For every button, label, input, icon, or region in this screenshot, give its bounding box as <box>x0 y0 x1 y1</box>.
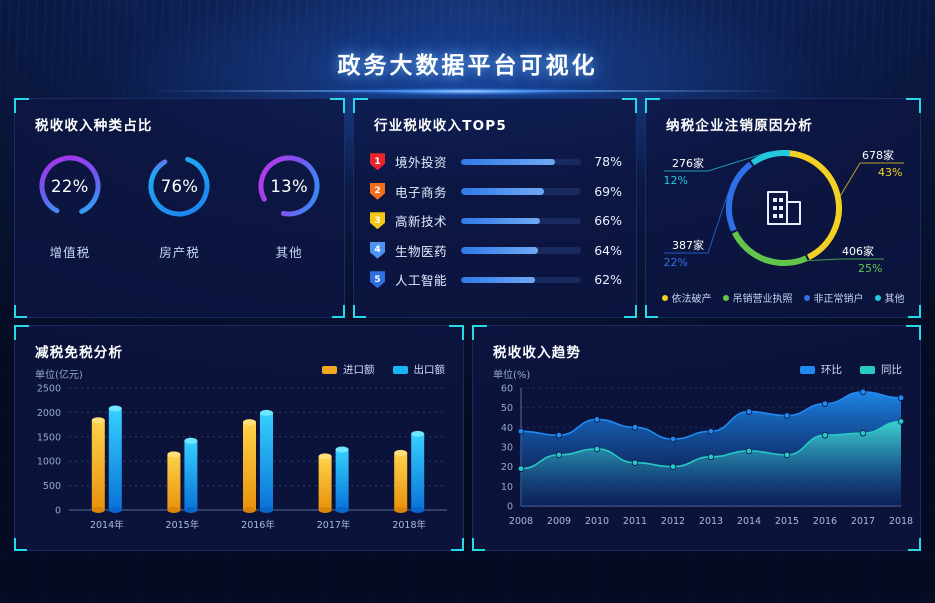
corner-bracket-bottom-left <box>14 305 27 318</box>
page-title: 政务大数据平台可视化 <box>0 46 935 80</box>
bar-base <box>184 507 197 513</box>
legend-label: 进口额 <box>343 362 375 377</box>
bar-cap <box>109 405 122 411</box>
bar-cap <box>411 431 424 437</box>
legend-dot <box>662 295 668 301</box>
y-axis-tick: 60 <box>501 384 513 395</box>
data-point-同比[interactable] <box>746 448 752 454</box>
donut-item-0[interactable]: 22% 增值税 <box>35 151 105 261</box>
header-glow-dot <box>318 88 618 95</box>
bar-base <box>92 507 105 513</box>
data-point-同比[interactable] <box>784 452 790 458</box>
rank-industry-name: 人工智能 <box>395 270 457 289</box>
rank-industry-name: 生物医药 <box>395 241 457 260</box>
legend-label: 出口额 <box>414 362 446 377</box>
x-axis-label: 2015 <box>775 516 799 527</box>
bar-出口额[interactable] <box>260 413 273 510</box>
trend-chart: 0102030405060200820092010201120122013201… <box>487 382 909 537</box>
bar-进口额[interactable] <box>243 422 256 510</box>
page-header: 政务大数据平台可视化 <box>0 0 935 96</box>
corner-bracket-bottom-right <box>908 538 921 551</box>
rank-bar-fill <box>461 247 538 254</box>
rank-percent: 78% <box>590 154 622 169</box>
bar-cap <box>260 410 273 416</box>
x-axis-label: 2018 <box>889 516 913 527</box>
rank-badge-3: 3 <box>370 212 385 229</box>
legend-swatch <box>322 366 337 374</box>
y-axis-tick: 2000 <box>37 408 61 419</box>
data-point-环比[interactable] <box>708 428 714 434</box>
table-row: 2电子商务69% <box>370 177 622 207</box>
data-point-环比[interactable] <box>898 395 904 401</box>
bar-base <box>243 507 256 513</box>
bar-出口额[interactable] <box>336 449 349 510</box>
rank-badge-2: 2 <box>370 183 385 200</box>
table-row: 4生物医药64% <box>370 236 622 266</box>
y-axis-tick: 0 <box>55 506 61 517</box>
ring-label-percent: 22% <box>664 256 688 269</box>
rank-bar-fill <box>461 159 555 166</box>
panel-title-tax-share: 税收收入种类占比 <box>35 114 153 134</box>
bar-出口额[interactable] <box>109 408 122 510</box>
bar-chart-plot: 050010001500200025002014年2015年2016年2017年… <box>29 382 451 537</box>
ring-legend-item[interactable]: 依法破产 <box>662 290 712 305</box>
x-axis-label: 2015年 <box>166 519 200 531</box>
donut-value-0: 22% <box>35 151 105 221</box>
data-point-同比[interactable] <box>556 452 562 458</box>
data-point-同比[interactable] <box>822 432 828 438</box>
legend-dot <box>723 295 729 301</box>
data-point-环比[interactable] <box>518 428 524 434</box>
ring-legend-item[interactable]: 吊销营业执照 <box>723 290 793 305</box>
rank-bar-track <box>461 188 581 195</box>
x-axis-label: 2012 <box>661 516 685 527</box>
bar-base <box>319 507 332 513</box>
bar-base <box>109 507 122 513</box>
corner-bracket-bottom-left <box>14 538 27 551</box>
rank-industry-name: 电子商务 <box>395 182 457 201</box>
x-axis-label: 2014 <box>737 516 761 527</box>
legend-label: 依法破产 <box>672 290 712 305</box>
y-axis-tick: 1500 <box>37 432 61 443</box>
panel-title-cancel: 纳税企业注销原因分析 <box>666 114 813 134</box>
bar-进口额[interactable] <box>394 453 407 510</box>
legend-item[interactable]: 同比 <box>860 362 902 377</box>
data-point-环比[interactable] <box>632 425 638 431</box>
y-axis-tick: 1000 <box>37 457 61 468</box>
ring-label-count: 276家 <box>672 156 704 170</box>
corner-bracket-bottom-right <box>624 305 637 318</box>
ring-label-count: 406家 <box>842 244 874 258</box>
y-axis-tick: 50 <box>501 403 513 414</box>
bar-出口额[interactable] <box>184 441 197 510</box>
panel-title-trend: 税收收入趋势 <box>493 341 581 361</box>
legend-dot <box>875 295 881 301</box>
panel-tax-trend: 税收收入趋势 单位(%) 环比同比 0102030405060200820092… <box>472 325 921 551</box>
data-point-环比[interactable] <box>594 417 600 423</box>
bar-chart: 050010001500200025002014年2015年2016年2017年… <box>29 382 451 537</box>
y-axis-tick: 500 <box>43 481 61 492</box>
ring-label-percent: 12% <box>664 174 688 187</box>
y-axis-tick: 10 <box>501 482 513 493</box>
legend-item[interactable]: 出口额 <box>393 362 446 377</box>
legend-label: 吊销营业执照 <box>733 290 793 305</box>
bar-base <box>260 507 273 513</box>
rank-bar-track <box>461 277 581 284</box>
x-axis-label: 2016 <box>813 516 837 527</box>
ring-chart-legend: 依法破产吊销营业执照非正常销户其他 <box>646 290 920 305</box>
data-point-同比[interactable] <box>594 446 600 452</box>
data-point-环比[interactable] <box>746 409 752 415</box>
bar-cap <box>92 417 105 423</box>
trend-chart-unit-label: 单位(%) <box>493 366 530 381</box>
ring-segment[interactable] <box>729 164 751 230</box>
x-axis-label: 2014年 <box>90 519 124 531</box>
donut-item-1[interactable]: 76% 房产税 <box>144 151 214 261</box>
panel-tax-reduction: 减税免税分析 单位(亿元) 进口额出口额 0500100015002000250… <box>14 325 464 551</box>
panel-cancellation-reasons: 纳税企业注销原因分析 678家43%406家25%387家22%276家12% … <box>645 98 921 318</box>
ring-label-percent: 43% <box>878 166 902 179</box>
rank-industry-name: 高新技术 <box>395 211 457 230</box>
donut-value-2: 13% <box>254 151 324 221</box>
bar-进口额[interactable] <box>167 454 180 510</box>
ring-segment[interactable] <box>735 232 807 263</box>
rank-percent: 62% <box>590 272 622 287</box>
y-axis-tick: 40 <box>501 423 513 434</box>
ring-label-count: 678家 <box>862 148 894 162</box>
rank-percent: 66% <box>590 213 622 228</box>
bar-cap <box>243 419 256 425</box>
rank-bar-track <box>461 247 581 254</box>
table-row: 3高新技术66% <box>370 206 622 236</box>
legend-swatch <box>800 366 815 374</box>
x-axis-label: 2013 <box>699 516 723 527</box>
panel-tax-share: 税收收入种类占比 22% 增值税 <box>14 98 345 318</box>
bar-cap <box>336 446 349 452</box>
corner-bracket-bottom-left <box>645 305 658 318</box>
rank-badge-1: 1 <box>370 153 385 170</box>
rank-list: 1境外投资78%2电子商务69%3高新技术66%4生物医药64%5人工智能62% <box>370 147 622 295</box>
x-axis-label: 2017 <box>851 516 875 527</box>
bar-进口额[interactable] <box>319 456 332 510</box>
ring-label-percent: 25% <box>858 262 882 275</box>
panel-industry-top5: 行业税收收入TOP5 1境外投资78%2电子商务69%3高新技术66%4生物医药… <box>353 98 637 318</box>
data-point-同比[interactable] <box>708 454 714 460</box>
y-axis-tick: 0 <box>507 502 513 513</box>
ring-label-count: 387家 <box>672 238 704 252</box>
ring-legend-item[interactable]: 非正常销户 <box>804 290 864 305</box>
donut-label-0: 增值税 <box>50 242 91 261</box>
data-point-环比[interactable] <box>556 432 562 438</box>
corner-bracket-bottom-right <box>332 305 345 318</box>
corner-bracket-bottom-right <box>451 538 464 551</box>
bar-cap <box>167 451 180 457</box>
data-point-环比[interactable] <box>822 401 828 407</box>
rank-bar-track <box>461 159 581 166</box>
x-axis-label: 2016年 <box>241 519 275 531</box>
rank-bar-track <box>461 218 581 225</box>
bar-base <box>394 507 407 513</box>
rank-industry-name: 境外投资 <box>395 152 457 171</box>
x-axis-label: 2009 <box>547 516 571 527</box>
donut-chart-2: 13% <box>254 151 324 221</box>
ring-legend-item[interactable]: 其他 <box>875 290 905 305</box>
corner-bracket-bottom-left <box>353 305 366 318</box>
legend-label: 其他 <box>885 290 905 305</box>
donut-chart-0: 22% <box>35 151 105 221</box>
ring-segment[interactable] <box>753 153 790 163</box>
rank-percent: 64% <box>590 243 622 258</box>
panel-title-reduction: 减税免税分析 <box>35 341 123 361</box>
legend-item[interactable]: 进口额 <box>322 362 375 377</box>
ring-chart-wrapper: 678家43%406家25%387家22%276家12% <box>646 133 920 283</box>
x-axis-label: 2008 <box>509 516 533 527</box>
data-point-同比[interactable] <box>632 460 638 466</box>
bar-cap <box>184 438 197 444</box>
x-axis-label: 2017年 <box>317 519 351 531</box>
donut-item-2[interactable]: 13% 其他 <box>254 151 324 261</box>
donut-value-1: 76% <box>144 151 214 221</box>
bar-base <box>411 507 424 513</box>
rank-badge-4: 4 <box>370 242 385 259</box>
legend-dot <box>804 295 810 301</box>
bar-chart-unit-label: 单位(亿元) <box>35 366 83 381</box>
trend-chart-plot: 0102030405060200820092010201120122013201… <box>487 382 909 537</box>
data-point-环比[interactable] <box>784 413 790 419</box>
legend-label: 环比 <box>821 362 842 377</box>
data-point-同比[interactable] <box>898 419 904 425</box>
bar-base <box>167 507 180 513</box>
rank-badge-5: 5 <box>370 271 385 288</box>
bar-cap <box>319 453 332 459</box>
bar-出口额[interactable] <box>411 434 424 510</box>
legend-label: 非正常销户 <box>814 290 864 305</box>
rank-bar-fill <box>461 218 540 225</box>
y-axis-tick: 30 <box>501 443 513 454</box>
corner-bracket-bottom-right <box>908 305 921 318</box>
panel-title-top5: 行业税收收入TOP5 <box>374 114 507 134</box>
x-axis-label: 2011 <box>623 516 647 527</box>
legend-swatch <box>393 366 408 374</box>
donut-group: 22% 增值税 76% 房产税 <box>15 151 344 261</box>
donut-label-1: 房产税 <box>159 242 200 261</box>
donut-chart-1: 76% <box>144 151 214 221</box>
x-axis-label: 2018年 <box>392 519 426 531</box>
trend-chart-legend: 环比同比 <box>800 362 902 377</box>
rank-percent: 69% <box>590 184 622 199</box>
rank-bar-fill <box>461 188 544 195</box>
data-point-环比[interactable] <box>670 436 676 442</box>
building-icon <box>761 185 807 231</box>
legend-swatch <box>860 366 875 374</box>
legend-label: 同比 <box>881 362 902 377</box>
data-point-同比[interactable] <box>518 466 524 472</box>
y-axis-tick: 2500 <box>37 384 61 395</box>
data-point-同比[interactable] <box>860 430 866 436</box>
x-axis-label: 2010 <box>585 516 609 527</box>
data-point-同比[interactable] <box>670 464 676 470</box>
y-axis-tick: 20 <box>501 462 513 473</box>
bar-cap <box>394 450 407 456</box>
data-point-环比[interactable] <box>860 389 866 395</box>
donut-label-2: 其他 <box>276 242 303 261</box>
bar-进口额[interactable] <box>92 420 105 510</box>
bar-chart-legend: 进口额出口额 <box>322 362 445 377</box>
rank-bar-fill <box>461 277 535 284</box>
table-row: 5人工智能62% <box>370 265 622 295</box>
table-row: 1境外投资78% <box>370 147 622 177</box>
bar-base <box>336 507 349 513</box>
corner-bracket-bottom-left <box>472 538 485 551</box>
legend-item[interactable]: 环比 <box>800 362 842 377</box>
